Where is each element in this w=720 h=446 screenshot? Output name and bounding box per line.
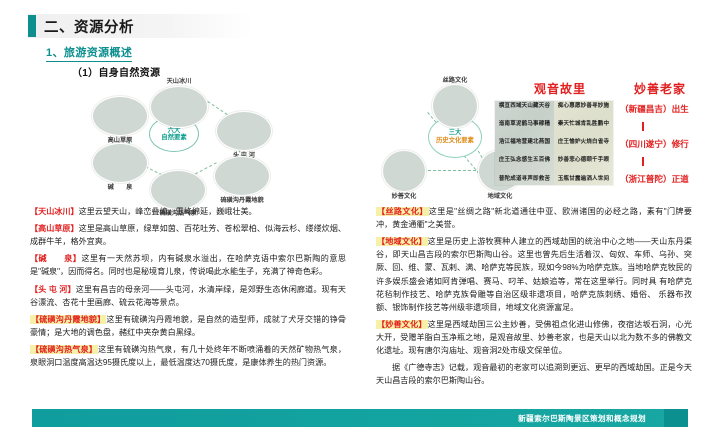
journey-connector (642, 122, 644, 131)
poem-column-right: 痴心惠愿妙善寻妙施 秦天忙城肯乱胜鹏中 庄王愉妒火烧白雀寺 妙善悲心德颐千手眼 … (554, 101, 613, 185)
journey-connector (642, 157, 644, 166)
paragraph-body: 这里云望天山，峰峦叠嶂，雪峰绵延，巍峨壮美。 (79, 207, 257, 216)
diagram-node-silkroad[interactable]: 丝路文化 (432, 84, 478, 128)
paragraph-body: 这里有昌吉的母亲河——头屯河，水清岸绿，是郊野生态休闲廊道。现有天谷漂流、杏花十… (30, 285, 346, 307)
natural-resources-text-column: 【天山冰川】这里云望天山，峰峦叠嶂，雪峰绵延，巍峨壮美。 【高山草原】这里是高山… (30, 205, 346, 373)
guanyin-journey-list: （新疆昌吉）出生 （四川遂宁）修行 （浙江普陀）正道 (620, 103, 718, 185)
culture-resources-text-column: 【丝路文化】这里是"丝绸之路"新北道通往中亚、欧洲诸国的必经之路，素有"门牌要冲… (376, 205, 692, 391)
node-label: 丝路文化 (443, 75, 468, 84)
paragraph-silkroad: 【丝路文化】这里是"丝绸之路"新北道通往中亚、欧洲诸国的必经之路，素有"门牌要冲… (376, 205, 692, 231)
poem-column-left: 横亘西域天山藏天谷 迤南草泥鹤马事稼穑 浩江福地营建北燕国 庄王弘念感生五百佛 … (495, 101, 554, 185)
hotspring-photo (150, 170, 206, 210)
center-label-line2: 历史文化要素 (436, 137, 474, 145)
paragraph-alkaline-spring: 【碱 泉】这里有一天然苏坝，内有碱泉水溢出，在哈萨克语中索尔巴斯陶的意思是"碱泉… (30, 252, 346, 278)
poem-title-left: 观音故里 (534, 80, 586, 97)
diagram-node-miaoshan[interactable]: 妙善文化 (382, 150, 426, 192)
paragraph-tag: 【头 屯 河】 (30, 285, 76, 294)
diagram-node-hotspring[interactable]: 硫磺沟热气泉 (150, 170, 206, 210)
diagram-node-alkaline-spring[interactable]: 碱 泉 (92, 143, 148, 183)
silkroad-globe-photo (432, 84, 478, 128)
poem-line: 庄王弘念感生五百佛 (497, 158, 552, 164)
section-heading-2: 1、旅游资源概述 (46, 44, 132, 62)
paragraph-miaoshan: 【妙善文化】这里是西域劫国三公主妙善，受佛祖点化进山修佛，夜宿达坂石洞，心光大开… (376, 318, 692, 357)
subsection-title: 1、旅游资源概述 (46, 44, 132, 62)
poem-title-group: 观音故里 妙善老家 (510, 80, 710, 97)
poem-line: 玉瓶甘露遍洒人世间 (556, 177, 611, 183)
heading-accent-bar (28, 15, 36, 37)
poem-couplet-panel: 横亘西域天山藏天谷 迤南草泥鹤马事稼穑 浩江福地营建北燕国 庄王弘念感生五百佛 … (495, 101, 613, 185)
node-label: 妙善文化 (392, 191, 417, 200)
grassland-photo (92, 96, 148, 136)
footer-end-block (664, 409, 688, 427)
paragraph-tag: 【妙善文化】 (376, 320, 428, 329)
poem-title-right: 妙善老家 (634, 80, 686, 97)
section-heading-1: 二、资源分析 (28, 14, 253, 38)
paragraph-tag: 【碱 泉】 (30, 254, 81, 263)
glacier-photo (150, 86, 208, 128)
poem-line: 痴心惠愿妙善寻妙施 (556, 104, 611, 110)
slide-canvas: 二、资源分析 1、旅游资源概述 （1）自身自然资源 六大 自然要素 天山冰川 头… (0, 0, 720, 446)
diagram-node-grassland[interactable]: 高山草原 (92, 96, 148, 136)
footer-title: 新疆索尔巴斯陶景区策划和概念规划 (518, 413, 646, 424)
poem-line: 迤南草泥鹤马事稼穑 (497, 122, 552, 128)
paragraph-body: 这里是历史上游牧赛种人建立的西域劫国的统治中心之地——天山东丹渠谷，即天山昌吉段… (376, 237, 692, 312)
section-title: 二、资源分析 (44, 16, 134, 37)
paragraph-danxia: 【硫磺沟丹霞地貌】这里有硫磺沟丹霞地貌，是自然的造型师，成就了犬牙交错的铮骨豪情… (30, 313, 346, 339)
center-label-line2: 自然要素 (161, 134, 187, 141)
paragraph-tag: 【高山草原】 (30, 224, 79, 233)
paragraph-tag: 【地域文化】 (376, 237, 428, 246)
cave-relic-photo (382, 150, 426, 192)
diagram-edge (418, 170, 486, 171)
node-label: 地域文化 (488, 191, 513, 200)
paragraph-hotspring: 【硫磺沟热气泉】这里有硫磺沟热气泉，有几十处终年不断喷涌着的天然矿物热气泉，泉眼… (30, 343, 346, 369)
paragraph-tag: 【硫磺沟丹霞地貌】 (30, 315, 106, 324)
section-heading-3: （1）自身自然资源 (72, 64, 160, 79)
alkaline-spring-photo (92, 143, 148, 183)
paragraph-body: 据《广德寺志》记载，观音最初的老家可以追溯到更远、更早的西域劫国。正是今天天山昌… (376, 363, 692, 385)
paragraph-grassland: 【高山草原】这里是高山草原，绿草如茵、百花吐芳、苍松翠柏、似海云杉、缕缕炊烟、成… (30, 222, 346, 248)
poem-line: 普陀成道寻声即救苦 (497, 177, 552, 183)
node-label: 碱 泉 (108, 182, 133, 191)
footer-bar: 新疆索尔巴斯陶景区策划和概念规划 (32, 409, 688, 427)
diagram-node-danxia[interactable]: 硫磺沟丹霞地貌 (214, 156, 270, 196)
diagram-node-glacier[interactable]: 天山冰川 (150, 86, 208, 128)
paragraph-river: 【头 屯 河】这里有昌吉的母亲河——头屯河，水清岸绿，是郊野生态休闲廊道。现有天… (30, 283, 346, 309)
natural-resources-diagram: 六大 自然要素 天山冰川 头 屯 河 硫磺沟丹霞地貌 硫磺沟热气泉 碱 泉 (88, 78, 298, 208)
journey-step-enlighten: （浙江普陀）正道 (620, 173, 689, 185)
paragraph-tag: 【天山冰川】 (30, 207, 79, 216)
node-label: 高山草原 (108, 135, 133, 144)
subsubsection-title: （1）自身自然资源 (72, 64, 160, 79)
danxia-photo (214, 156, 270, 196)
diagram-node-river[interactable]: 头 屯 河 (216, 111, 272, 151)
poem-line: 横亘西域天山藏天谷 (497, 104, 552, 110)
node-label: 硫磺沟丹霞地貌 (220, 195, 263, 204)
poem-line: 庄王愉妒火烧白雀寺 (556, 140, 611, 146)
center-label-line1: 三大 (449, 129, 462, 137)
node-label: 天山冰川 (167, 76, 192, 85)
paragraph-guangdesi-note: 据《广德寺志》记载，观音最初的老家可以追溯到更远、更早的西域劫国。正是今天天山昌… (376, 361, 692, 387)
paragraph-glacier: 【天山冰川】这里云望天山，峰峦叠嶂，雪峰绵延，巍峨壮美。 (30, 205, 346, 218)
poem-line: 秦天忙城肯乱胜鹏中 (556, 122, 611, 128)
river-photo (216, 111, 272, 151)
poem-line: 浩江福地营建北燕国 (497, 140, 552, 146)
poem-line: 妙善悲心德颐千手眼 (556, 158, 611, 164)
journey-step-birth: （新疆昌吉）出生 (620, 103, 689, 115)
paragraph-regional: 【地域文化】这里是历史上游牧赛种人建立的西域劫国的统治中心之地——天山东丹渠谷，… (376, 235, 692, 314)
journey-step-practice: （四川遂宁）修行 (620, 138, 689, 150)
paragraph-tag: 【丝路文化】 (376, 207, 429, 216)
paragraph-tag: 【硫磺沟热气泉】 (30, 345, 98, 354)
